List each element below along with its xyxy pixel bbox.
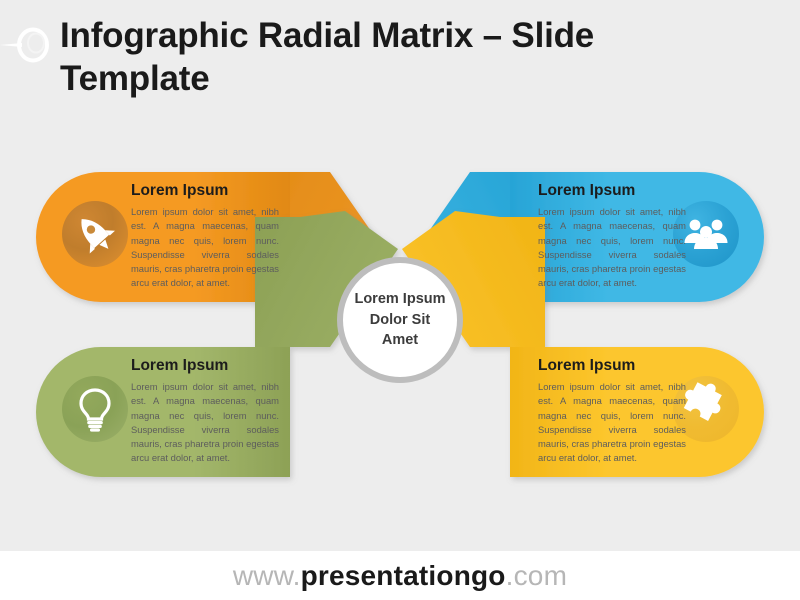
footer-bar: www.presentationgo.com — [0, 551, 800, 600]
radial-matrix-diagram: Lorem Ipsum Lorem ipsum dolor sit amet, … — [0, 0, 800, 551]
panel-text-green: Lorem Ipsum Lorem ipsum dolor sit amet, … — [131, 357, 279, 466]
panel-heading-green: Lorem Ipsum — [131, 357, 279, 375]
url-brand: presentationgo — [301, 560, 506, 591]
panel-text-orange: Lorem Ipsum Lorem ipsum dolor sit amet, … — [131, 182, 279, 291]
rocket-icon[interactable] — [62, 201, 128, 267]
panel-body-yellow: Lorem ipsum dolor sit amet, nibh est. A … — [538, 380, 686, 466]
panel-body-green: Lorem ipsum dolor sit amet, nibh est. A … — [131, 380, 279, 466]
lightbulb-icon[interactable] — [62, 376, 128, 442]
url-prefix: www. — [233, 560, 301, 591]
panel-heading-orange: Lorem Ipsum — [131, 182, 279, 200]
url-suffix: .com — [506, 560, 567, 591]
panel-body-blue: Lorem ipsum dolor sit amet, nibh est. A … — [538, 205, 686, 291]
panel-text-yellow: Lorem Ipsum Lorem ipsum dolor sit amet, … — [538, 357, 686, 466]
center-circle-label: Lorem Ipsum Dolor Sit Amet — [352, 289, 448, 351]
panel-text-blue: Lorem Ipsum Lorem ipsum dolor sit amet, … — [538, 182, 686, 291]
slide-canvas: Infographic Radial Matrix – Slide Templa… — [0, 0, 800, 551]
center-circle[interactable]: Lorem Ipsum Dolor Sit Amet — [337, 257, 463, 383]
panel-heading-yellow: Lorem Ipsum — [538, 357, 686, 375]
site-url[interactable]: www.presentationgo.com — [233, 560, 567, 592]
panel-body-orange: Lorem ipsum dolor sit amet, nibh est. A … — [131, 205, 279, 291]
panel-heading-blue: Lorem Ipsum — [538, 182, 686, 200]
